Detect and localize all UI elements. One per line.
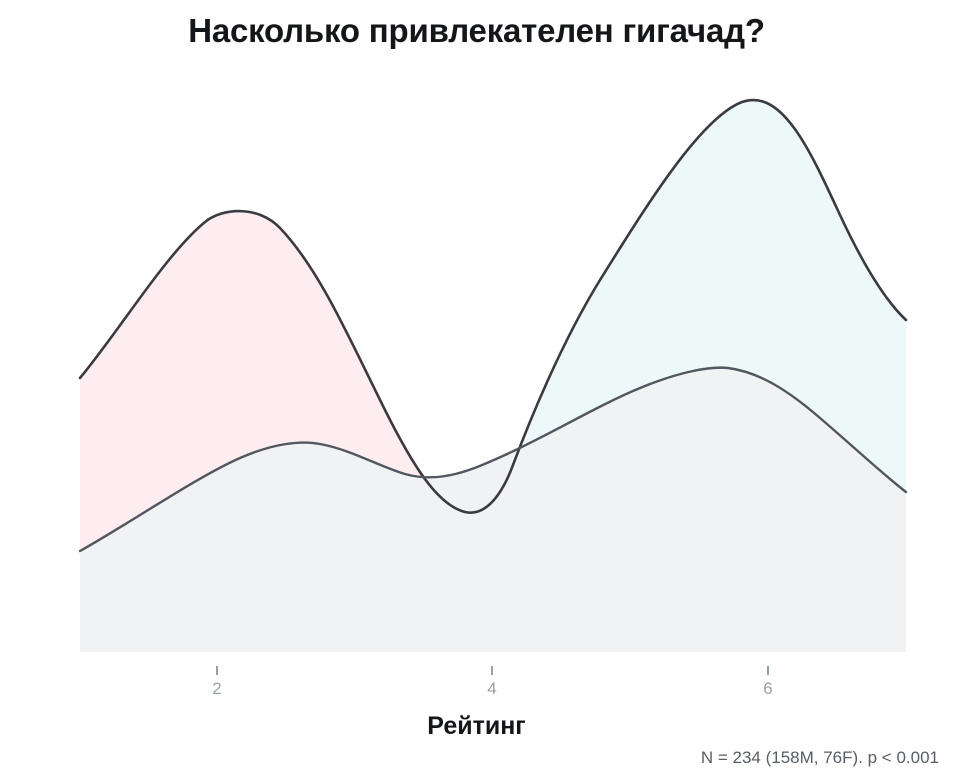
density-plot (0, 0, 953, 778)
tick-label-6: 6 (748, 679, 788, 699)
tick-mark-6 (767, 666, 769, 675)
sample-size-annotation: N = 234 (158M, 76F). p < 0.001 (701, 748, 939, 768)
x-axis-label: Рейтинг (0, 712, 953, 741)
tick-label-2: 2 (197, 679, 237, 699)
tick-mark-2 (216, 666, 218, 675)
tick-mark-4 (491, 666, 493, 675)
tick-label-4: 4 (472, 679, 512, 699)
chart-figure: Насколько привлекателен гигачад? 2 4 6 Р… (0, 0, 953, 778)
